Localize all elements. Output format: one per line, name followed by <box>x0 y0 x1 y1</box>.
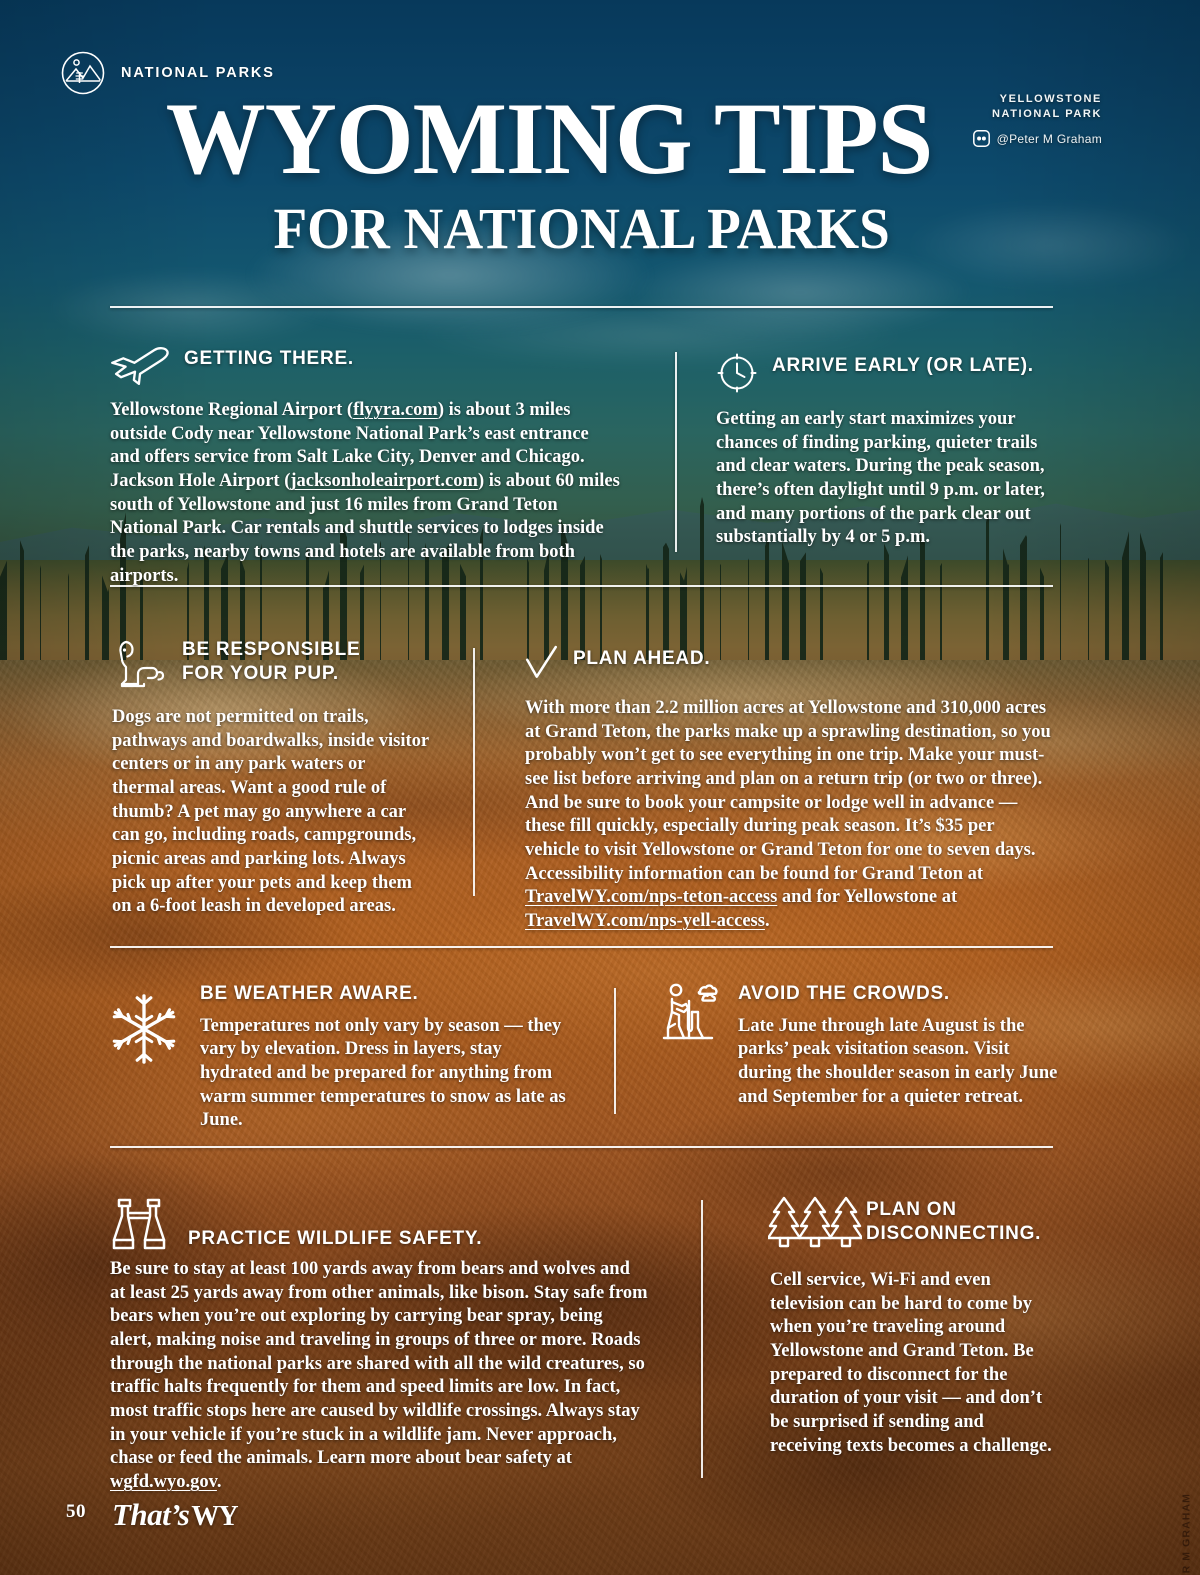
tip-title: BE RESPONSIBLE FOR YOUR PUP. <box>182 636 360 685</box>
pine-trees-icon <box>768 1196 862 1257</box>
logo-bold-text: WY <box>191 1501 237 1533</box>
body-link[interactable]: jacksonholeairport.com <box>290 471 478 491</box>
magazine-page: NATIONAL PARKS YELLOWSTONE NATIONAL PARK… <box>0 0 1200 1575</box>
tip-header: PLAN ON DISCONNECTING. <box>866 1196 1058 1245</box>
tip-title: PRACTICE WILDLIFE SAFETY. <box>188 1225 482 1251</box>
tip-getting-there: GETTING THERE. Yellowstone Regional Airp… <box>110 345 620 588</box>
thats-wy-logo: That’s WY <box>112 1497 238 1533</box>
masthead-label: NATIONAL PARKS <box>121 65 275 81</box>
national-park-badge-icon <box>60 50 106 96</box>
tip-title: ARRIVE EARLY (OR LATE). <box>772 352 1034 378</box>
divider-rule-1 <box>110 306 1053 308</box>
divider-rule-4 <box>110 1146 1053 1148</box>
tip-body: Be sure to stay at least 100 yards away … <box>110 1258 648 1495</box>
body-text: Late June through late August is the par… <box>738 1016 1057 1107</box>
tip-header: AVOID THE CROWDS. <box>738 980 1058 1006</box>
tip-body: With more than 2.2 million acres at Yell… <box>525 697 1053 934</box>
tip-practice-wildlife-safety: PRACTICE WILDLIFE SAFETY. Be sure to sta… <box>110 1258 648 1495</box>
credit-handle: @Peter M Graham <box>997 132 1102 146</box>
body-text: With more than 2.2 million acres at Yell… <box>525 698 1051 884</box>
tip-header: PLAN AHEAD. <box>525 645 1053 688</box>
binoculars-icon <box>108 1196 170 1257</box>
tip-arrive-early: ARRIVE EARLY (OR LATE). Getting an early… <box>716 352 1054 550</box>
body-text: . <box>217 1472 222 1492</box>
tip-title: AVOID THE CROWDS. <box>738 980 950 1006</box>
tip-header: BE RESPONSIBLE FOR YOUR PUP. <box>112 636 432 697</box>
tip-title: GETTING THERE. <box>184 345 354 371</box>
credit-handle-row: @Peter M Graham <box>973 130 1102 147</box>
column-divider-1 <box>675 352 677 552</box>
tip-body: Yellowstone Regional Airport (flyyra.com… <box>110 399 620 588</box>
body-text: . <box>765 911 770 931</box>
tip-title: BE WEATHER AWARE. <box>200 980 419 1006</box>
page-title: WYOMING TIPS <box>166 92 932 187</box>
divider-rule-3 <box>110 946 1053 948</box>
tip-body: Late June through late August is the par… <box>738 1015 1058 1110</box>
body-link[interactable]: TravelWY.com/nps-teton-access <box>525 887 777 907</box>
tip-header: PRACTICE WILDLIFE SAFETY. <box>188 1225 482 1251</box>
body-link[interactable]: wgfd.wyo.gov <box>110 1472 217 1492</box>
tip-header: ARRIVE EARLY (OR LATE). <box>716 352 1054 399</box>
column-divider-4 <box>701 1200 703 1478</box>
tip-body: Dogs are not permitted on trails, pathwa… <box>112 706 432 919</box>
tip-avoid-the-crowds: AVOID THE CROWDS. Late June through late… <box>738 980 1058 1109</box>
tip-be-responsible-pup: BE RESPONSIBLE FOR YOUR PUP. Dogs are no… <box>112 636 432 919</box>
body-link[interactable]: flyyra.com <box>353 400 438 420</box>
logo-script-text: That’s <box>112 1497 189 1533</box>
flickr-icon <box>973 130 990 147</box>
tip-be-weather-aware: BE WEATHER AWARE. Temperatures not only … <box>200 980 572 1133</box>
tip-header: GETTING THERE. <box>110 345 620 390</box>
clock-icon <box>716 352 758 399</box>
body-text: and for Yellowstone at <box>777 887 957 907</box>
airplane-icon <box>110 345 170 390</box>
page-content: NATIONAL PARKS YELLOWSTONE NATIONAL PARK… <box>0 0 1200 1575</box>
side-photo-credit: FLICKR/PETER M GRAHAM <box>1180 1493 1192 1575</box>
tip-title: PLAN AHEAD. <box>573 645 710 671</box>
body-text: Temperatures not only vary by season — t… <box>200 1016 566 1131</box>
tip-header: BE WEATHER AWARE. <box>200 980 572 1006</box>
body-text: Getting an early start maximizes your ch… <box>716 409 1045 547</box>
body-text: Yellowstone Regional Airport ( <box>110 400 353 420</box>
page-number: 50 <box>66 1501 86 1523</box>
credit-location-line-1: YELLOWSTONE <box>973 92 1102 107</box>
photo-credit: YELLOWSTONE NATIONAL PARK @Peter M Graha… <box>973 92 1102 147</box>
tip-body: Temperatures not only vary by season — t… <box>200 1015 572 1133</box>
body-text: Be sure to stay at least 100 yards away … <box>110 1259 648 1468</box>
tip-plan-on-disconnecting: PLAN ON DISCONNECTING. <box>866 1196 1058 1245</box>
body-link[interactable]: TravelWY.com/nps-yell-access <box>525 911 765 931</box>
hiker-icon <box>662 982 724 1049</box>
snowflake-icon <box>105 990 183 1073</box>
tip-body: Cell service, Wi-Fi and even television … <box>770 1269 1060 1458</box>
column-divider-3 <box>614 988 616 1114</box>
credit-location-line-2: NATIONAL PARK <box>973 107 1102 122</box>
tip-plan-ahead: PLAN AHEAD. With more than 2.2 million a… <box>525 645 1053 934</box>
body-text: Cell service, Wi-Fi and even television … <box>770 1270 1052 1456</box>
body-text: Dogs are not permitted on trails, pathwa… <box>112 707 429 916</box>
tip-title: PLAN ON DISCONNECTING. <box>866 1196 1041 1245</box>
dog-icon <box>112 636 168 697</box>
checkmark-icon <box>525 645 559 688</box>
tip-body: Getting an early start maximizes your ch… <box>716 408 1054 550</box>
page-subtitle: FOR NATIONAL PARKS <box>274 200 890 258</box>
column-divider-2 <box>473 648 475 896</box>
